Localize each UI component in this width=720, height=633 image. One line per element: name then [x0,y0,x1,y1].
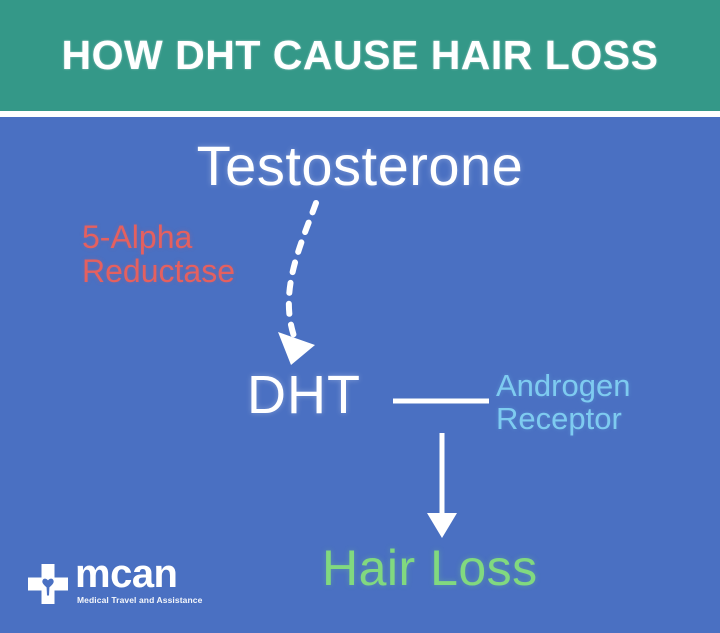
diagram-body: Testosterone DHT Hair Loss 5-Alpha Reduc… [0,117,720,633]
label-5-alpha-reductase-line2: Reductase [82,255,235,289]
label-5-alpha-reductase: 5-Alpha Reductase [82,221,235,289]
mcan-logo: mcan Medical Travel and Assistance [28,555,202,605]
medical-cross-heart-icon [28,564,68,604]
label-5-alpha-reductase-line1: 5-Alpha [82,221,235,255]
header-band: HOW DHT CAUSE HAIR LOSS [0,0,720,111]
mcan-logo-tagline: Medical Travel and Assistance [77,595,202,605]
label-androgen-receptor-line2: Receptor [496,402,630,435]
label-androgen-receptor-line1: Androgen [496,369,630,402]
label-androgen-receptor: Androgen Receptor [496,369,630,436]
page-title: HOW DHT CAUSE HAIR LOSS [62,35,659,76]
connector-dht-to-hair-loss-icon [427,433,457,538]
mcan-logo-word: mcan [75,555,178,593]
mcan-logo-text: mcan Medical Travel and Assistance [75,555,202,605]
node-testosterone: Testosterone [0,137,720,194]
node-dht: DHT [247,368,361,423]
connector-testosterone-to-dht-icon [278,203,316,365]
infographic-canvas: HOW DHT CAUSE HAIR LOSS Testosterone DHT [0,0,720,633]
node-hair-loss: Hair Loss [322,543,538,594]
